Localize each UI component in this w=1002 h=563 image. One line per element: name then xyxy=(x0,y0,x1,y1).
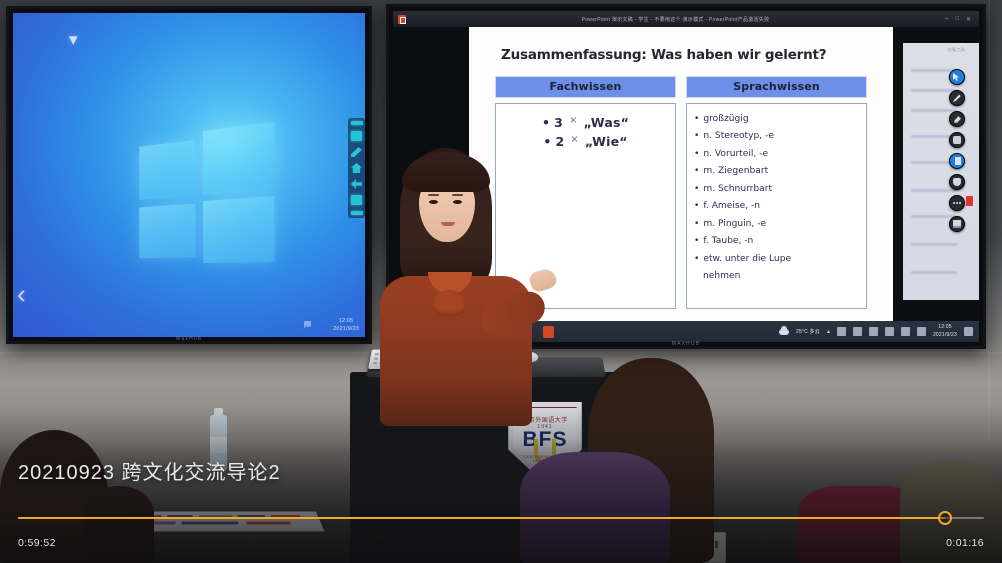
menu-icon[interactable] xyxy=(351,211,363,215)
clock-date: 2021/9/23 xyxy=(933,332,957,339)
clock-time: 12:05 xyxy=(933,324,957,331)
windows-logo-icon xyxy=(139,122,274,264)
reader-icon[interactable] xyxy=(949,153,965,169)
item-count: 3 xyxy=(554,113,563,132)
column-header: Sprachwissen xyxy=(686,76,867,98)
weather-label: 25°C 多云 xyxy=(796,328,820,335)
left-display-toolbar[interactable] xyxy=(348,118,365,218)
list-item: •n. Vorurteil, -e xyxy=(694,146,859,163)
list-item: •großzügig xyxy=(694,111,859,128)
wall-seam xyxy=(988,0,990,440)
item-text: n. Stereotyp, -e xyxy=(703,128,774,145)
multiply-icon: × xyxy=(568,132,581,151)
item-text: nehmen xyxy=(703,268,740,285)
left-display: ▾ ‹ 12:05 2021/9/23 MaxHub xyxy=(6,6,372,344)
pen-icon[interactable] xyxy=(885,327,894,336)
table-column-sprachwissen: Sprachwissen •großzügig •n. Stereotyp, -… xyxy=(686,76,867,309)
minimize-icon[interactable]: – xyxy=(945,16,948,23)
display-brand-label: MaxHub xyxy=(176,336,202,342)
shape-icon[interactable] xyxy=(949,132,965,148)
powerpoint-titlebar: PowerPoint 演示文稿 - 学生 - 不要用这个 演示模式 - Powe… xyxy=(393,11,979,27)
whiteboard-palette[interactable] xyxy=(949,69,965,232)
page-icon[interactable] xyxy=(949,216,965,232)
list-item: •etw. unter die Lupe xyxy=(694,251,859,268)
annotate-icon[interactable] xyxy=(351,147,362,157)
item-text: n. Vorurteil, -e xyxy=(703,146,768,163)
bullet-icon: • xyxy=(694,163,699,180)
item-text: f. Ameise, -n xyxy=(703,198,760,215)
bullet-icon: • xyxy=(694,198,699,215)
item-term: „Wie“ xyxy=(585,132,628,151)
bullet-icon: • xyxy=(694,128,699,145)
shield-icon[interactable] xyxy=(837,327,846,336)
window-controls[interactable]: – □ ✕ xyxy=(945,16,979,23)
list-item: •f. Ameise, -n xyxy=(694,198,859,215)
close-icon[interactable]: ✕ xyxy=(966,16,971,23)
item-term: „Was“ xyxy=(584,113,629,132)
list-item: •n. Stereotyp, -e xyxy=(694,128,859,145)
left-display-clock: 12:05 2021/9/23 xyxy=(333,317,359,333)
item-text: großzügig xyxy=(703,111,748,128)
home-icon[interactable] xyxy=(351,163,362,173)
column-header: Fachwissen xyxy=(495,76,676,98)
window-title: PowerPoint 演示文稿 - 学生 - 不要用这个 演示模式 - Powe… xyxy=(406,16,945,23)
keyboard-icon[interactable] xyxy=(901,327,910,336)
stamp-icon[interactable] xyxy=(949,174,965,190)
item-text: m. Schnurrbart xyxy=(703,181,772,198)
tray-pen-icon[interactable] xyxy=(304,321,311,328)
item-text: f. Taube, -n xyxy=(703,233,753,250)
video-player-frame: ▾ ‹ 12:05 2021/9/23 MaxHub PowerPoint 演示… xyxy=(0,0,1002,563)
network-icon[interactable] xyxy=(853,327,862,336)
palette-label: 白板工具 xyxy=(948,47,965,53)
clock-time: 12:05 xyxy=(333,317,359,325)
powerpoint-icon xyxy=(398,15,406,24)
item-text: m. Pinguin, -e xyxy=(703,216,766,233)
bullet-icon: • xyxy=(542,113,550,132)
bow-tie xyxy=(432,290,466,316)
chevron-up-icon[interactable]: ▴ xyxy=(827,328,830,335)
chevron-down-icon[interactable]: ▾ xyxy=(69,31,78,48)
bullet-icon: • xyxy=(694,216,699,233)
clock-date: 2021/9/23 xyxy=(333,325,359,333)
progress-fill xyxy=(18,517,945,519)
list-item: •m. Ziegenbart xyxy=(694,163,859,180)
chevron-left-icon[interactable]: ‹ xyxy=(17,281,26,307)
bullet-icon: • xyxy=(694,111,699,128)
item-text: etw. unter die Lupe xyxy=(703,251,791,268)
hair-fringe xyxy=(402,152,490,192)
maximize-icon[interactable]: □ xyxy=(955,16,959,23)
progress-handle[interactable] xyxy=(938,511,952,525)
cursor-icon[interactable] xyxy=(949,69,965,85)
bullet-icon: • xyxy=(694,181,699,198)
list-item-continuation: nehmen xyxy=(694,268,859,285)
list-item: • 3 × „Was“ xyxy=(503,113,668,132)
remaining-time: 0:01:16 xyxy=(946,537,984,549)
display-brand-label: MAXHUB xyxy=(672,341,701,347)
instructor xyxy=(372,148,562,418)
elapsed-time: 0:59:52 xyxy=(18,537,56,549)
item-text: m. Ziegenbart xyxy=(703,163,768,180)
battery-icon[interactable] xyxy=(917,327,926,336)
pen-icon[interactable] xyxy=(949,90,965,106)
bullet-icon: • xyxy=(694,251,699,268)
student-head xyxy=(520,452,670,563)
weather-icon[interactable] xyxy=(779,329,789,335)
column-body: •großzügig •n. Stereotyp, -e •n. Vorurte… xyxy=(686,103,867,309)
tools-icon[interactable] xyxy=(351,131,362,141)
slide-right-panel xyxy=(903,43,979,300)
list-item: •m. Pinguin, -e xyxy=(694,216,859,233)
list-item: •m. Schnurrbart xyxy=(694,181,859,198)
bullet-icon: • xyxy=(694,233,699,250)
video-title: 20210923 跨文化交流导论2 xyxy=(18,456,281,485)
show-desktop-icon[interactable] xyxy=(964,327,973,336)
apps-icon[interactable] xyxy=(351,195,362,205)
more-icon[interactable] xyxy=(949,195,965,211)
multiply-icon: × xyxy=(567,113,580,132)
powerpoint-icon xyxy=(966,196,973,206)
slide-title: Zusammenfassung: Was haben wir gelernt? xyxy=(491,47,871,63)
bullet-icon: • xyxy=(694,146,699,163)
back-icon[interactable] xyxy=(351,179,362,189)
progress-bar[interactable] xyxy=(18,511,984,525)
left-display-screen: ▾ ‹ 12:05 2021/9/23 xyxy=(13,13,365,337)
menu-icon[interactable] xyxy=(351,121,363,125)
taskbar-clock[interactable]: 12:05 2021/9/23 xyxy=(933,324,957,339)
chat-icon[interactable] xyxy=(869,327,878,336)
eraser-icon[interactable] xyxy=(949,111,965,127)
hand xyxy=(528,266,559,293)
list-item: •f. Taube, -n xyxy=(694,233,859,250)
